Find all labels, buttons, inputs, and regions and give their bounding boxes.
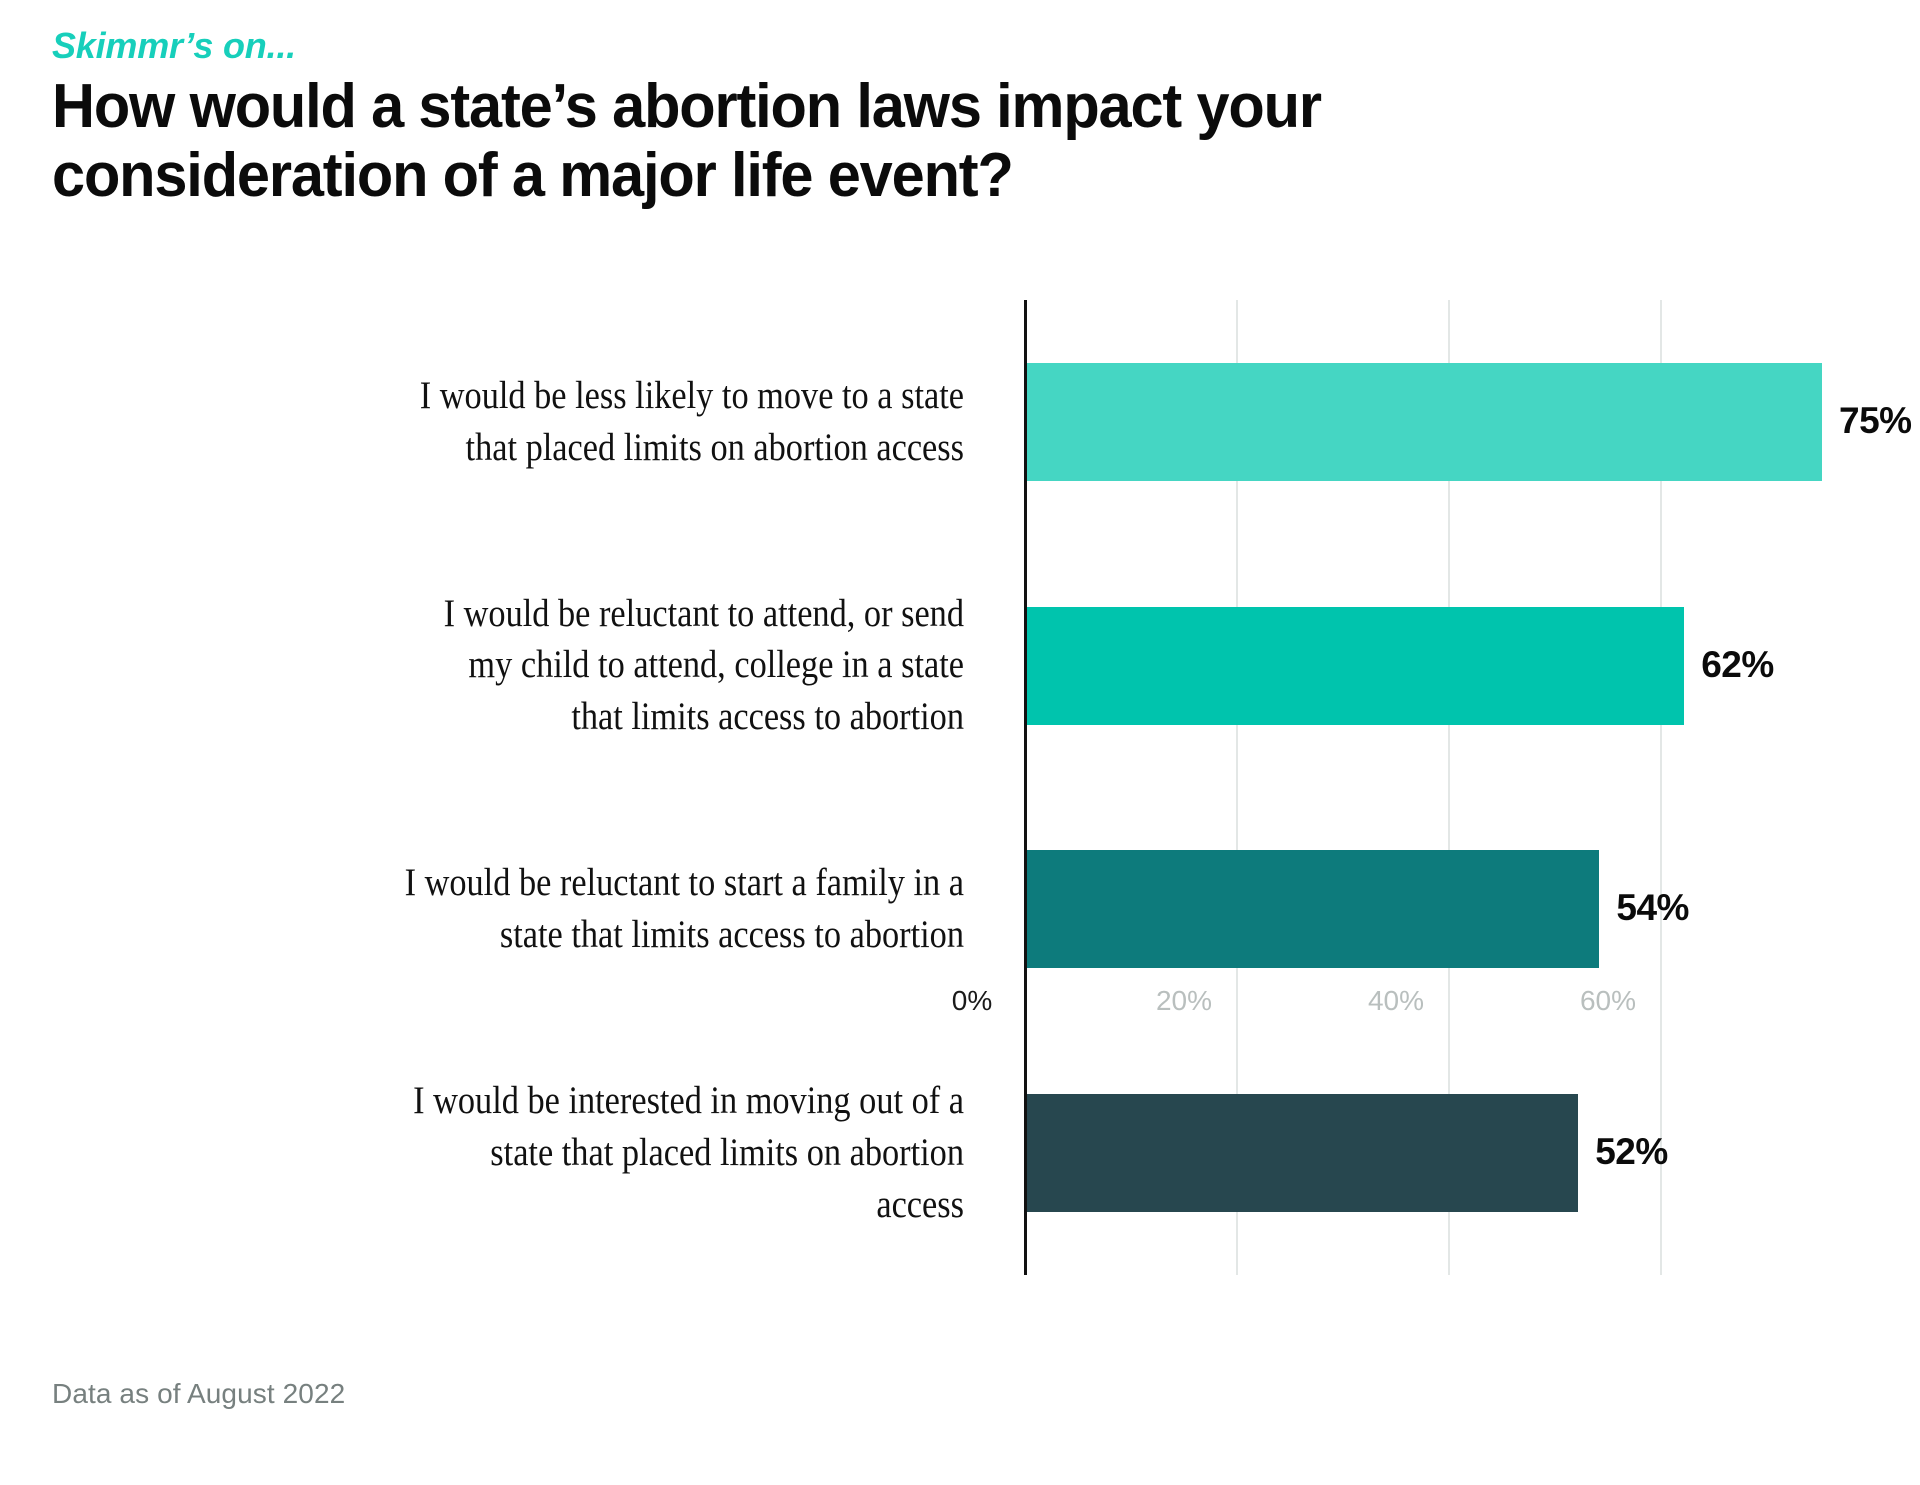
x-tick-label: 60% [1580,985,1636,1017]
category-label: I would be interested in moving out of a… [161,1075,964,1231]
x-tick-label: 0% [952,985,992,1017]
bar[interactable] [1027,850,1599,968]
plot-area: 75%62%54%52% [1024,300,1872,1275]
bar-value-label: 54% [1616,887,1689,929]
category-label: I would be reluctant to attend, or send … [161,588,964,744]
category-label: I would be reluctant to start a family i… [161,857,964,961]
bar[interactable] [1027,363,1822,481]
page-title: How would a state’s abortion laws impact… [52,72,1626,211]
x-tick-label: 40% [1368,985,1424,1017]
bar-value-label: 62% [1701,644,1774,686]
x-tick-label: 20% [1156,985,1212,1017]
source-note: Data as of August 2022 [52,1378,345,1410]
bar-chart: I would be less likely to move to a stat… [52,300,1872,1330]
header: Skimmr’s on... How would a state’s abort… [52,26,1752,210]
category-label: I would be less likely to move to a stat… [161,370,964,474]
eyebrow-label: Skimmr’s on... [52,26,1752,66]
category-label-column: I would be less likely to move to a stat… [52,300,982,1275]
bar-value-label: 75% [1839,400,1912,442]
bar[interactable] [1027,1094,1578,1212]
bar[interactable] [1027,607,1684,725]
bar-value-label: 52% [1595,1131,1668,1173]
x-axis-ticks: 0%20%40%60% [972,985,1820,1045]
infographic-page: Skimmr’s on... How would a state’s abort… [0,0,1920,1485]
